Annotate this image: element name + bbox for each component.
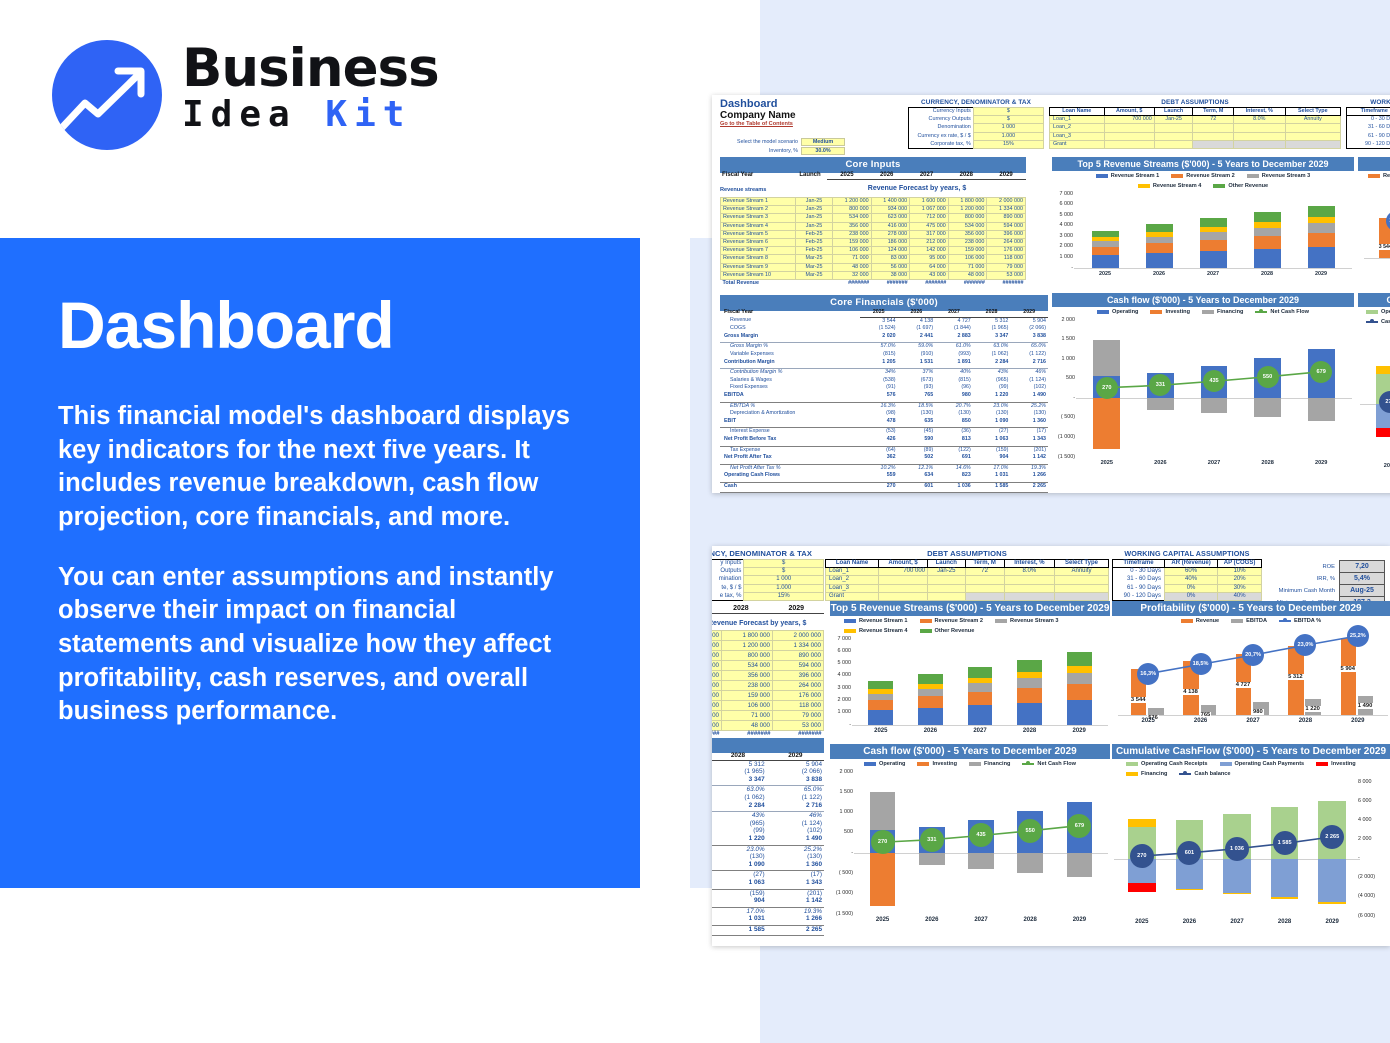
- wc-cell: 0 - 30 Days: [1113, 568, 1165, 576]
- financials-row: EBIT4786358501 0901 360: [720, 418, 1048, 426]
- revenue-stream-launch[interactable]: Feb-25: [796, 239, 833, 247]
- revenue-stream-value[interactable]: 238 000: [948, 239, 987, 247]
- currency-value[interactable]: 1 000: [973, 124, 1043, 132]
- launch-label: Launch: [793, 171, 827, 180]
- debt-column-header: Amount, $: [879, 560, 928, 568]
- revenue-stream-value[interactable]: 623 000: [871, 214, 910, 222]
- revenue-stream-name[interactable]: Revenue Stream 8: [721, 255, 796, 263]
- revenue-stream-value[interactable]: 356 000: [948, 230, 987, 238]
- debt-cell[interactable]: [1104, 140, 1154, 148]
- revenue-stream-launch[interactable]: Feb-25: [796, 230, 833, 238]
- debt-cell[interactable]: 8.0%: [1233, 116, 1285, 124]
- revenue-stream-value[interactable]: 95 000: [910, 255, 949, 263]
- year-header: 2026: [898, 309, 936, 317]
- revenue-stream-value[interactable]: 106 000: [948, 255, 987, 263]
- revenue-stream-value[interactable]: 356 000: [722, 671, 773, 681]
- revenue-stream-value[interactable]: 264 000: [773, 681, 824, 691]
- wc-row: 31 - 60 Days40%20%: [1347, 124, 1390, 132]
- working-capital-header: WORKING CAPITAL ASSUMPTIONS: [1346, 99, 1390, 106]
- debt-cell[interactable]: [928, 592, 965, 600]
- dashboard-screenshot-top: Dashboard Company Name Go to the Table o…: [712, 95, 1390, 493]
- financials-value: 1 031: [712, 915, 767, 923]
- wc-cell[interactable]: 40%: [1164, 576, 1217, 584]
- debt-column-header: Select Type: [1285, 108, 1340, 116]
- revenue-stream-value[interactable]: 124 000: [871, 247, 910, 255]
- legend-label: EBITDA: [1246, 618, 1267, 624]
- financials-value: 1 142: [767, 897, 824, 905]
- revenue-stream-value[interactable]: 118 000: [773, 701, 824, 711]
- revenue-stream-launch[interactable]: Mar-25: [796, 255, 833, 263]
- revenue-stream-value[interactable]: 475 000: [712, 661, 722, 671]
- revenue-stream-value[interactable]: 79 000: [987, 263, 1026, 271]
- wc-row: 61 - 90 Days0%30%: [1113, 584, 1262, 592]
- financials-value: 12.1%: [898, 464, 936, 472]
- debt-cell[interactable]: [1233, 124, 1285, 132]
- legend-label: Other Revenue: [1228, 183, 1268, 189]
- financials-value: 2 716: [767, 802, 824, 810]
- chart-bar: [1146, 232, 1173, 236]
- revenue-stream-row: Revenue Stream 10Mar-2532 00038 00043 00…: [721, 271, 1026, 279]
- working-capital-block-bottom: WORKING CAPITAL ASSUMPTIONS TimeframeAR …: [1112, 549, 1262, 601]
- revenue-stream-value[interactable]: 534 000: [948, 222, 987, 230]
- data-point-bubble: 550: [1018, 819, 1042, 843]
- data-point-bubble: 550: [1257, 366, 1279, 388]
- revenue-stream-value[interactable]: 43 000: [712, 721, 722, 731]
- revenue-stream-value[interactable]: 212 000: [910, 239, 949, 247]
- revenue-stream-value[interactable]: 1 400 000: [871, 198, 910, 206]
- debt-cell[interactable]: Annuity: [1055, 568, 1109, 576]
- table-of-contents-link[interactable]: Go to the Table of Contents: [720, 121, 810, 127]
- debt-cell[interactable]: 8.0%: [1004, 568, 1054, 576]
- financials-value: 3 544: [860, 317, 898, 325]
- legend-swatch: [1366, 321, 1378, 323]
- revenue-stream-launch[interactable]: Jan-25: [796, 206, 833, 214]
- revenue-stream-launch[interactable]: Mar-25: [796, 271, 833, 279]
- debt-cell[interactable]: 72: [965, 568, 1004, 576]
- financials-value: 43%: [712, 812, 767, 820]
- debt-cell[interactable]: [1004, 576, 1054, 584]
- revenue-stream-value[interactable]: 317 000: [910, 230, 949, 238]
- chart-plot: 8 0006 0004 0002 000-(2 000)(4 000)(6 00…: [1112, 778, 1390, 930]
- debt-cell[interactable]: [1154, 140, 1193, 148]
- chart-profitability-top: Profitability ($'000) - 5 Years to Decem…: [1358, 157, 1390, 287]
- revenue-stream-value[interactable]: 534 000: [833, 214, 872, 222]
- debt-cell[interactable]: Loan_1: [826, 568, 879, 576]
- x-axis-tick: 2026: [1141, 271, 1177, 277]
- revenue-stream-value[interactable]: 594 000: [773, 661, 824, 671]
- debt-cell[interactable]: [879, 592, 928, 600]
- legend-swatch: [1247, 174, 1259, 178]
- revenue-stream-row: Revenue Stream 8Mar-2571 00083 00095 000…: [721, 255, 1026, 263]
- scenario-select[interactable]: Medium: [801, 138, 845, 146]
- debt-cell[interactable]: [928, 584, 965, 592]
- financials-label: Depreciation & Amortization: [720, 410, 860, 418]
- debt-cell[interactable]: [1154, 124, 1193, 132]
- revenue-stream-name[interactable]: Revenue Stream 7: [721, 247, 796, 255]
- currency-value[interactable]: 1.000: [744, 584, 824, 592]
- revenue-stream-value[interactable]: 2 000 000: [773, 631, 824, 641]
- data-point-bubble: 270: [1096, 377, 1118, 399]
- chart-bar: [868, 689, 893, 693]
- revenue-stream-value[interactable]: 53 000: [773, 721, 824, 731]
- financials-value: 25.2%: [1010, 402, 1048, 410]
- legend-item: Other Revenue: [920, 628, 975, 634]
- debt-column-header: Loan Name: [826, 560, 879, 568]
- chart-profitability-bottom: Profitability ($'000) - 5 Years to Decem…: [1112, 601, 1390, 741]
- revenue-stream-value[interactable]: 356 000: [833, 222, 872, 230]
- chart-cash-flow-bottom: Cash flow ($'000) - 5 Years to December …: [830, 744, 1110, 940]
- revenue-stream-value[interactable]: 1 600 000: [712, 631, 722, 641]
- debt-cell[interactable]: [1055, 576, 1109, 584]
- debt-row: Grant: [826, 592, 1109, 600]
- revenue-stream-value[interactable]: 396 000: [987, 230, 1026, 238]
- x-axis-tick: 2027: [1195, 271, 1231, 277]
- wc-cell[interactable]: 0%: [1164, 592, 1217, 600]
- currency-value[interactable]: 1 000: [744, 576, 824, 584]
- debt-cell[interactable]: [965, 576, 1004, 584]
- financials-row: Gross Margin2 0202 4412 8833 3473 838: [720, 333, 1048, 341]
- revenue-stream-value[interactable]: 1 067 000: [910, 206, 949, 214]
- debt-cell[interactable]: [1193, 124, 1233, 132]
- revenue-stream-value[interactable]: 79 000: [773, 711, 824, 721]
- kpi-label: ROE: [1270, 561, 1340, 573]
- revenue-stream-launch[interactable]: Jan-25: [796, 198, 833, 206]
- revenue-stream-value[interactable]: 64 000: [910, 263, 949, 271]
- revenue-stream-value[interactable]: 594 000: [987, 222, 1026, 230]
- zero-axis-line: [1074, 268, 1352, 269]
- debt-cell[interactable]: [1193, 132, 1233, 140]
- revenue-stream-row: 95 000106 000118 000: [712, 701, 824, 711]
- revenue-stream-value[interactable]: 64 000: [712, 711, 722, 721]
- debt-cell[interactable]: [879, 584, 928, 592]
- financials-value: (1 697): [898, 325, 936, 333]
- revenue-stream-value[interactable]: 2 000 000: [987, 198, 1026, 206]
- y-axis-tick: 2 000: [830, 697, 851, 703]
- data-point-bubble: 270: [1130, 844, 1154, 868]
- legend-item: Net Cash Flow: [1255, 309, 1309, 315]
- revenue-stream-value[interactable]: 278 000: [871, 230, 910, 238]
- revenue-stream-name[interactable]: Revenue Stream 3: [721, 214, 796, 222]
- revenue-stream-value[interactable]: 142 000: [712, 691, 722, 701]
- legend-item: Revenue: [1368, 173, 1390, 179]
- debt-cell[interactable]: Annuity: [1285, 116, 1340, 124]
- debt-cell[interactable]: Grant: [826, 592, 879, 600]
- financials-value: 10.2%: [860, 464, 898, 472]
- revenue-stream-value[interactable]: 176 000: [987, 247, 1026, 255]
- brand-name-idea: Idea: [182, 94, 297, 135]
- legend-item: Revenue Stream 4: [844, 628, 908, 634]
- revenue-stream-value[interactable]: 1 800 000: [948, 198, 987, 206]
- revenue-stream-value[interactable]: 186 000: [871, 239, 910, 247]
- debt-cell[interactable]: Loan_2: [1050, 124, 1105, 132]
- chart-bar: [868, 700, 893, 710]
- legend-item: Revenue Stream 1: [844, 618, 908, 624]
- revenue-stream-name[interactable]: Revenue Stream 1: [721, 198, 796, 206]
- revenue-stream-launch[interactable]: Jan-25: [796, 214, 833, 222]
- revenue-stream-value[interactable]: 48 000: [722, 721, 773, 731]
- financials-value: (201): [1010, 446, 1048, 454]
- financials-value: 57.0%: [860, 343, 898, 351]
- wc-cell[interactable]: 30%: [1218, 584, 1262, 592]
- debt-cell[interactable]: [1104, 132, 1154, 140]
- revenue-stream-value[interactable]: 317 000: [712, 671, 722, 681]
- debt-cell[interactable]: Grant: [1050, 140, 1105, 148]
- revenue-stream-value[interactable]: 238 000: [722, 681, 773, 691]
- wc-header-row: TimeframeAR (Revenue)AP (COGS): [1113, 560, 1262, 568]
- debt-column-header: Select Type: [1055, 560, 1109, 568]
- debt-cell[interactable]: 700 000: [1104, 116, 1154, 124]
- wc-row: 31 - 60 Days40%20%: [1113, 576, 1262, 584]
- revenue-stream-row: 712 000800 000890 000: [712, 651, 824, 661]
- revenue-stream-value[interactable]: 800 000: [833, 206, 872, 214]
- revenue-stream-launch[interactable]: Feb-25: [796, 247, 833, 255]
- debt-cell[interactable]: [965, 592, 1004, 600]
- financials-value: (130): [1010, 410, 1048, 418]
- background-band-bottom-left: [0, 888, 760, 1043]
- debt-cell[interactable]: [965, 584, 1004, 592]
- financials-value: 65.0%: [767, 786, 824, 794]
- debt-cell[interactable]: 72: [1193, 116, 1233, 124]
- financials-value: (130): [935, 410, 973, 418]
- debt-cell[interactable]: Loan_1: [1050, 116, 1105, 124]
- revenue-stream-value[interactable]: 934 000: [871, 206, 910, 214]
- debt-cell[interactable]: [1004, 584, 1054, 592]
- revenue-stream-value[interactable]: 83 000: [871, 255, 910, 263]
- revenue-stream-value[interactable]: 712 000: [712, 651, 722, 661]
- revenue-stream-value[interactable]: 159 000: [948, 247, 987, 255]
- revenue-stream-value[interactable]: 48 000: [948, 271, 987, 279]
- revenue-stream-value[interactable]: 71 000: [948, 263, 987, 271]
- revenue-stream-value[interactable]: 95 000: [712, 701, 722, 711]
- year-header: 2028: [973, 309, 1011, 317]
- debt-cell[interactable]: 700 000: [879, 568, 928, 576]
- currency-value[interactable]: $: [744, 568, 824, 576]
- financials-value: (993): [935, 351, 973, 359]
- revenue-stream-value[interactable]: 1 334 000: [987, 206, 1026, 214]
- financials-value: (93): [898, 384, 936, 392]
- debt-cell[interactable]: Loan_2: [826, 576, 879, 584]
- legend-swatch: [1181, 619, 1193, 623]
- currency-value[interactable]: 15%: [744, 592, 824, 600]
- legend-item: EBITDA %: [1279, 618, 1321, 624]
- revenue-stream-value[interactable]: 534 000: [722, 661, 773, 671]
- chart-bar: [1092, 241, 1119, 247]
- revenue-stream-launch[interactable]: Jan-25: [796, 222, 833, 230]
- debt-cell[interactable]: [1104, 124, 1154, 132]
- legend-item: Cash balance: [1179, 771, 1230, 777]
- wc-cell[interactable]: 60%: [1164, 568, 1217, 576]
- financials-value: (1 062): [712, 794, 767, 802]
- financials-value: (1 122): [767, 794, 824, 802]
- financials-row: Depreciation & Amortization(98)(130)(130…: [720, 410, 1048, 418]
- revenue-stream-value[interactable]: 212 000: [712, 681, 722, 691]
- zero-axis-line: [852, 725, 1108, 726]
- sheet-title: Dashboard: [720, 99, 810, 111]
- revenue-stream-value[interactable]: 71 000: [722, 711, 773, 721]
- revenue-stream-value[interactable]: 475 000: [910, 222, 949, 230]
- revenue-stream-value[interactable]: 1 200 000: [722, 641, 773, 651]
- revenue-stream-value[interactable]: 176 000: [773, 691, 824, 701]
- currency-label: Currency Outputs: [909, 116, 974, 124]
- revenue-stream-name[interactable]: Revenue Stream 4: [721, 222, 796, 230]
- debt-cell[interactable]: [1233, 140, 1285, 148]
- legend-label: Financing: [1217, 309, 1243, 315]
- financials-value: 1 343: [1010, 436, 1048, 444]
- revenue-stream-value[interactable]: 118 000: [987, 255, 1026, 263]
- legend-item: Investing: [917, 761, 957, 767]
- financials-value: 1 031: [973, 472, 1011, 480]
- revenue-stream-value[interactable]: 159 000: [722, 691, 773, 701]
- financials-row: 61.0%63.0%65.0%: [712, 786, 824, 794]
- revenue-stream-value[interactable]: 1 200 000: [833, 198, 872, 206]
- revenue-stream-name[interactable]: Revenue Stream 10: [721, 271, 796, 279]
- debt-cell[interactable]: [1285, 140, 1340, 148]
- debt-cell[interactable]: [1193, 140, 1233, 148]
- financials-value: 1 585: [712, 925, 767, 933]
- financials-value: 40%: [935, 369, 973, 377]
- wc-cell[interactable]: 20%: [1218, 576, 1262, 584]
- legend-item: EBITDA: [1231, 618, 1267, 624]
- legend-swatch: [1231, 619, 1243, 623]
- financials-value: 813: [935, 436, 973, 444]
- debt-cell[interactable]: [1285, 132, 1340, 140]
- debt-cell[interactable]: [1004, 592, 1054, 600]
- debt-cell[interactable]: Jan-25: [1154, 116, 1193, 124]
- revenue-stream-value[interactable]: 396 000: [773, 671, 824, 681]
- revenue-stream-value[interactable]: 800 000: [722, 651, 773, 661]
- revenue-stream-value[interactable]: 32 000: [833, 271, 872, 279]
- currency-value[interactable]: $: [744, 560, 824, 568]
- revenue-stream-value[interactable]: 1 200 000: [948, 206, 987, 214]
- financials-value: (1 062): [973, 351, 1011, 359]
- debt-cell[interactable]: [1055, 584, 1109, 592]
- debt-cell[interactable]: [1285, 124, 1340, 132]
- debt-cell[interactable]: Loan_3: [1050, 132, 1105, 140]
- revenue-stream-name[interactable]: Revenue Stream 6: [721, 239, 796, 247]
- wc-cell[interactable]: 0%: [1164, 584, 1217, 592]
- debt-cell[interactable]: [1233, 132, 1285, 140]
- revenue-stream-name[interactable]: Revenue Stream 9: [721, 263, 796, 271]
- debt-cell[interactable]: Loan_3: [826, 584, 879, 592]
- brand-name-sub: Idea Kit: [182, 97, 439, 133]
- chart-title: Top 5 Revenue Streams ($'000) - 5 Years …: [1052, 157, 1354, 171]
- financials-label: Net Profit After Tax %: [720, 464, 860, 472]
- debt-cell[interactable]: [1154, 132, 1193, 140]
- revenue-stream-value[interactable]: 1 334 000: [773, 641, 824, 651]
- legend-swatch: [1220, 762, 1232, 766]
- revenue-stream-value[interactable]: 56 000: [871, 263, 910, 271]
- financials-value: 1 142: [1010, 454, 1048, 462]
- wc-cell[interactable]: 10%: [1218, 568, 1262, 576]
- chart-plot: 8 0006 0004 0002 000-(2 000)(4 000)(6 00…: [1358, 326, 1390, 474]
- revenue-stream-value[interactable]: 71 000: [833, 255, 872, 263]
- financials-value: 34%: [860, 369, 898, 377]
- financials-value: (130): [767, 853, 824, 861]
- revenue-stream-value[interactable]: 43 000: [910, 271, 949, 279]
- financials-value: (1 844): [935, 325, 973, 333]
- financials-row: Net Profit Before Tax4265908131 0631 343: [720, 436, 1048, 444]
- page-title: Dashboard: [58, 292, 584, 358]
- financials-value: 1 036: [935, 482, 973, 490]
- financials-row: Gross Margin %57.0%59.0%61.0%63.0%65.0%: [720, 343, 1048, 351]
- financials-row: Interest Expense(53)(45)(36)(27)(17): [720, 428, 1048, 436]
- revenue-stream-value[interactable]: 53 000: [987, 271, 1026, 279]
- kpi-row: ROE7,20: [1270, 561, 1385, 573]
- revenue-stream-value[interactable]: 106 000: [722, 701, 773, 711]
- currency-value[interactable]: 15%: [973, 140, 1043, 148]
- revenue-stream-value[interactable]: 142 000: [910, 247, 949, 255]
- revenue-stream-value[interactable]: 1 800 000: [722, 631, 773, 641]
- revenue-stream-name[interactable]: Revenue Stream 2: [721, 206, 796, 214]
- year-header: 2027: [907, 171, 947, 180]
- legend-label: Investing: [1165, 309, 1190, 315]
- legend-item: Operating Cash Receipts: [1366, 309, 1390, 315]
- financials-value: 2 716: [1010, 359, 1048, 367]
- legend-label: Revenue Stream 2: [1186, 173, 1235, 179]
- revenue-stream-value[interactable]: 1 600 000: [910, 198, 949, 206]
- revenue-stream-value[interactable]: 159 000: [833, 239, 872, 247]
- chart-bar: [1017, 672, 1042, 679]
- currency-value[interactable]: $: [973, 108, 1043, 116]
- financials-row: Tax Expense(64)(89)(122)(159)(201): [720, 446, 1048, 454]
- financials-value: 1 266: [767, 915, 824, 923]
- legend-swatch: [995, 619, 1007, 623]
- financials-row: 1 0361 5852 265: [712, 925, 824, 933]
- financials-value: 1 490: [767, 835, 824, 843]
- financials-label: EBITDA %: [720, 402, 860, 410]
- revenue-stream-name[interactable]: Revenue Stream 5: [721, 230, 796, 238]
- revenue-stream-value[interactable]: 1 067 000: [712, 641, 722, 651]
- financials-row: 4 7275 3125 904: [712, 760, 824, 768]
- currency-value[interactable]: $: [973, 116, 1043, 124]
- financials-row: 1 8912 2842 716: [712, 802, 824, 810]
- revenue-stream-value[interactable]: 238 000: [833, 230, 872, 238]
- debt-cell[interactable]: Jan-25: [928, 568, 965, 576]
- revenue-stream-value[interactable]: 800 000: [948, 214, 987, 222]
- financials-row: Salaries & Wages(538)(673)(815)(965)(1 1…: [720, 377, 1048, 385]
- revenue-stream-launch[interactable]: Mar-25: [796, 263, 833, 271]
- legend-label: Revenue: [1383, 173, 1390, 179]
- revenue-stream-value[interactable]: 416 000: [871, 222, 910, 230]
- financials-value: 2 883: [935, 333, 973, 341]
- legend-item: Revenue Stream 4: [1138, 183, 1202, 189]
- kpi-value: Aug-25: [1340, 585, 1385, 597]
- wc-row: 0 - 30 Days60%10%: [1113, 568, 1262, 576]
- chart-bar: [1254, 236, 1281, 249]
- financials-row: 8231 0311 266: [712, 915, 824, 923]
- revenue-stream-value[interactable]: 38 000: [871, 271, 910, 279]
- inventory-input[interactable]: 30.0%: [801, 147, 845, 155]
- currency-row: y Inputs$: [712, 560, 824, 568]
- currency-value[interactable]: 1.000: [973, 132, 1043, 140]
- revenue-stream-value[interactable]: 48 000: [833, 263, 872, 271]
- revenue-stream-value[interactable]: 106 000: [833, 247, 872, 255]
- financials-value: 980: [935, 392, 973, 400]
- financials-value: 5 312: [973, 317, 1011, 325]
- revenue-stream-value[interactable]: 264 000: [987, 239, 1026, 247]
- wc-cell[interactable]: 40%: [1218, 592, 1262, 600]
- core-financials-bar-bottom: [712, 738, 824, 753]
- revenue-stream-value[interactable]: 890 000: [987, 214, 1026, 222]
- financials-value: 1 220: [712, 835, 767, 843]
- debt-cell[interactable]: [1055, 592, 1109, 600]
- debt-cell[interactable]: [879, 576, 928, 584]
- chart-bar: [868, 694, 893, 701]
- debt-cell[interactable]: [928, 576, 965, 584]
- chart-bar: [1067, 684, 1092, 700]
- revenue-stream-value[interactable]: 890 000: [773, 651, 824, 661]
- revenue-stream-value[interactable]: 712 000: [910, 214, 949, 222]
